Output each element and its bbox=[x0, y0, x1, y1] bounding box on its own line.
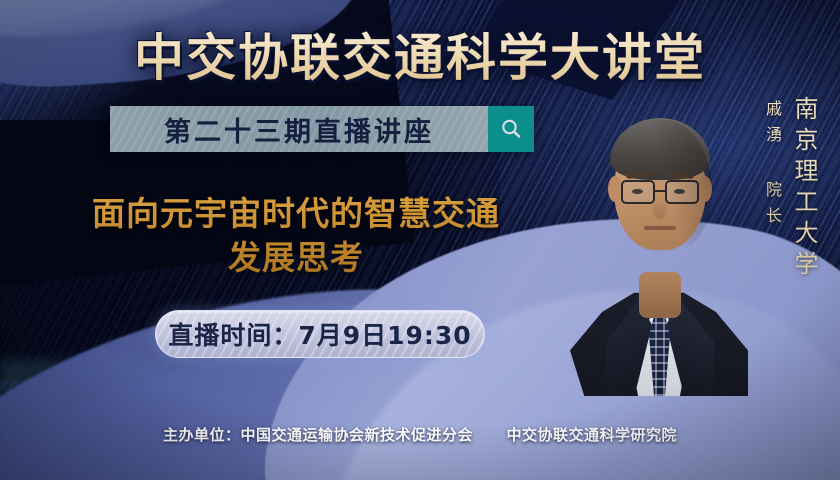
lecture-topic-line2: 发展思考 bbox=[36, 236, 556, 280]
speaker-portrait bbox=[568, 96, 750, 396]
broadcast-time-badge: 直播时间：7月9日19:30 bbox=[155, 310, 485, 358]
session-banner: 第二十三期直播讲座 bbox=[110, 106, 534, 152]
speaker-organization: 南京理工大学 bbox=[787, 96, 822, 282]
organizer-primary: 主办单位：中国交通运输协会新技术促进分会 bbox=[163, 426, 473, 444]
session-label: 第二十三期直播讲座 bbox=[164, 110, 434, 149]
portrait-neck bbox=[639, 272, 681, 318]
broadcast-time-text: 直播时间：7月9日19:30 bbox=[168, 316, 471, 352]
search-button[interactable] bbox=[488, 106, 534, 152]
page-title: 中交协联交通科学大讲堂 bbox=[0, 18, 840, 90]
search-icon bbox=[499, 117, 523, 141]
organizer-secondary: 中交协联交通科学研究院 bbox=[506, 426, 677, 444]
session-banner-body: 第二十三期直播讲座 bbox=[110, 106, 488, 152]
organizer-footer: 主办单位：中国交通运输协会新技术促进分会 中交协联交通科学研究院 bbox=[0, 424, 840, 445]
speaker-name-title: 戚湧 院长 bbox=[760, 100, 784, 233]
lecture-topic-line1: 面向元宇宙时代的智慧交通 bbox=[92, 194, 500, 233]
portrait-face-shadow bbox=[608, 120, 712, 256]
lecture-topic: 面向元宇宙时代的智慧交通 发展思考 bbox=[36, 192, 556, 280]
live-stream-poster: 中交协联交通科学大讲堂 第二十三期直播讲座 面向元宇宙时代的智慧交通 发展思考 … bbox=[0, 0, 840, 480]
